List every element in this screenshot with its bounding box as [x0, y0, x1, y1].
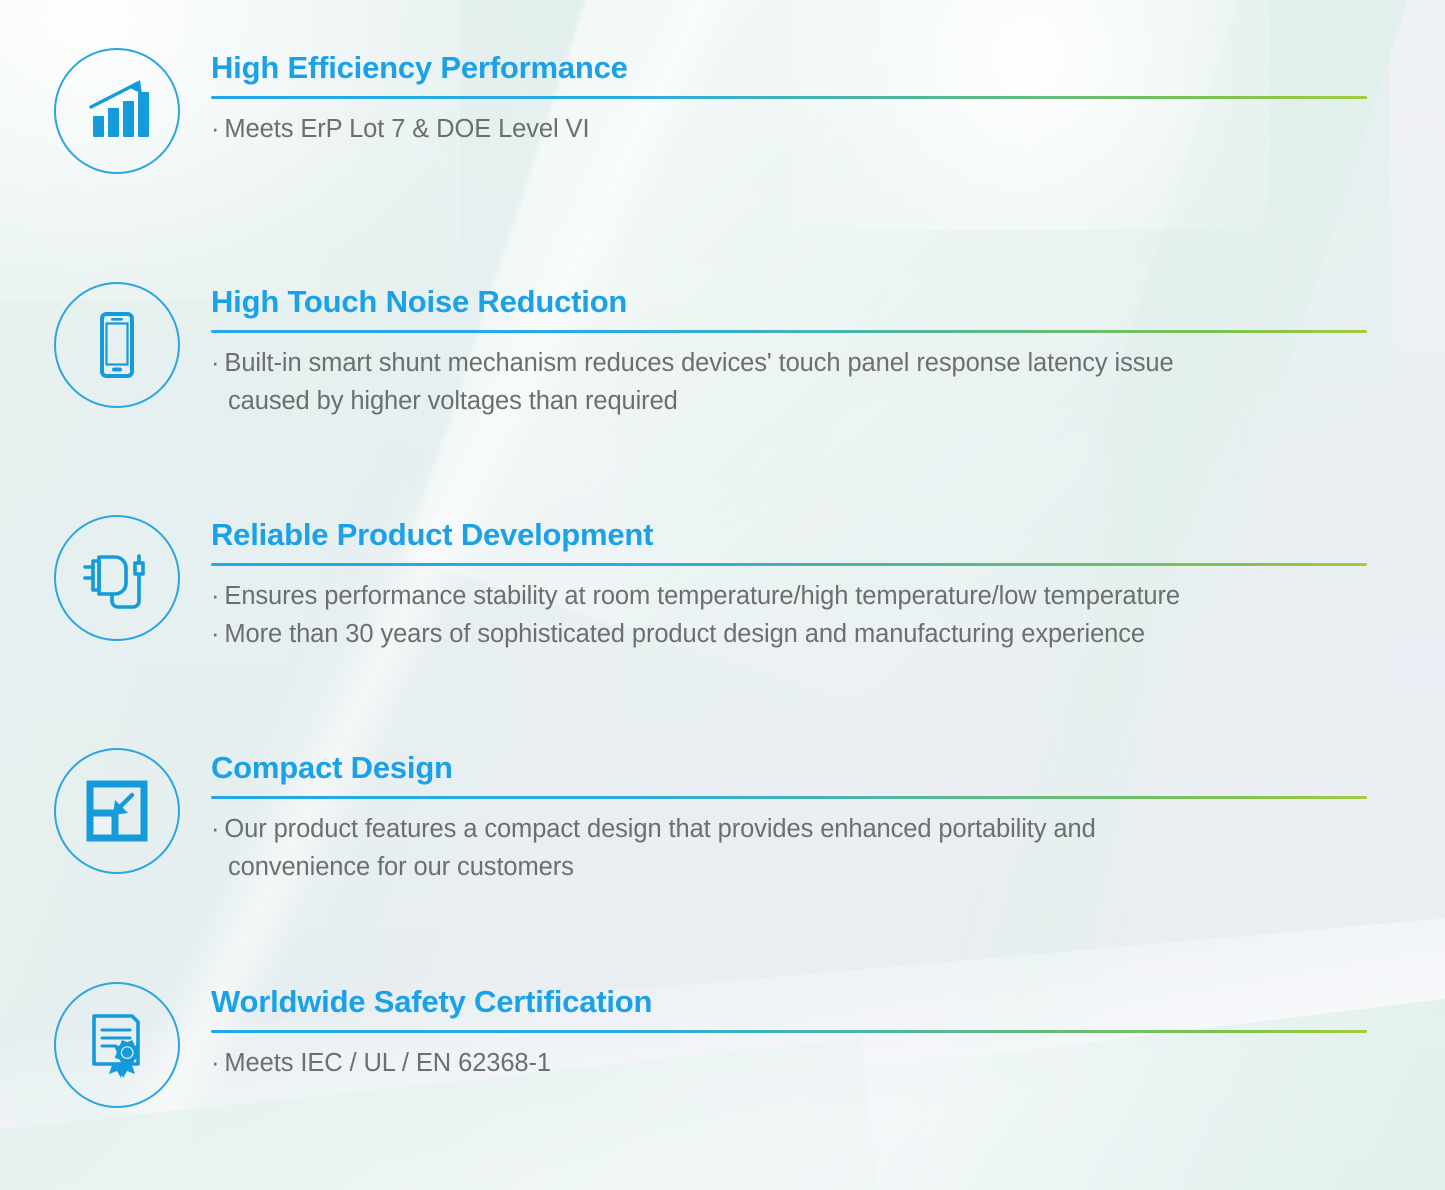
feature-bullet-text: convenience for our customers [228, 853, 574, 881]
certificate-seal-icon [54, 982, 180, 1108]
feature-bullet-line: ·Ensures performance stability at room t… [211, 577, 1367, 616]
feature-divider [211, 1030, 1367, 1033]
bullet-glyph: · [211, 1049, 219, 1077]
feature-highlights-page: High Efficiency Performance ·Meets ErP L… [0, 0, 1445, 1190]
feature-bullet-line: ·More than 30 years of sophisticated pro… [211, 615, 1367, 654]
feature-bullet-text: Ensures performance stability at room te… [224, 582, 1180, 610]
feature-text-block: Worldwide Safety Certification ·Meets IE… [211, 986, 1367, 1082]
feature-text-block: Compact Design ·Our product features a c… [211, 752, 1367, 887]
feature-bullet-line: ·Meets ErP Lot 7 & DOE Level VI [211, 110, 1367, 149]
feature-bullet-text: Meets ErP Lot 7 & DOE Level VI [224, 115, 589, 143]
feature-bullet-list: ·Meets ErP Lot 7 & DOE Level VI [211, 110, 1367, 149]
feature-bullet-text: Our product features a compact design th… [224, 815, 1095, 843]
feature-bullet-text: Built-in smart shunt mechanism reduces d… [224, 349, 1173, 377]
bullet-glyph: · [211, 115, 219, 143]
feature-bullet-text: Meets IEC / UL / EN 62368-1 [224, 1049, 551, 1077]
bullet-glyph: · [211, 582, 219, 610]
feature-text-block: Reliable Product Development ·Ensures pe… [211, 519, 1367, 654]
feature-divider [211, 96, 1367, 99]
smartphone-icon [54, 282, 180, 408]
feature-title: Reliable Product Development [211, 519, 1367, 552]
bullet-glyph: · [211, 349, 219, 377]
bullet-glyph: · [211, 815, 219, 843]
feature-bullet-list: ·Built-in smart shunt mechanism reduces … [211, 344, 1367, 422]
feature-title: Worldwide Safety Certification [211, 986, 1367, 1019]
feature-text-block: High Efficiency Performance ·Meets ErP L… [211, 52, 1367, 148]
feature-bullet-line-continuation: convenience for our customers [211, 848, 1367, 887]
feature-bullet-line: ·Built-in smart shunt mechanism reduces … [211, 344, 1367, 383]
feature-divider [211, 563, 1367, 566]
feature-text-block: High Touch Noise Reduction ·Built-in sma… [211, 286, 1367, 421]
feature-title: Compact Design [211, 752, 1367, 785]
feature-title: High Efficiency Performance [211, 52, 1367, 85]
feature-bullet-line: ·Our product features a compact design t… [211, 810, 1367, 849]
power-adapter-icon [54, 515, 180, 641]
feature-title: High Touch Noise Reduction [211, 286, 1367, 319]
feature-bullet-line-continuation: caused by higher voltages than required [211, 382, 1367, 421]
feature-bullet-text: More than 30 years of sophisticated prod… [224, 620, 1145, 648]
compact-resize-icon [54, 748, 180, 874]
bar-chart-growth-icon [54, 48, 180, 174]
bullet-glyph: · [211, 620, 219, 648]
feature-bullet-list: ·Ensures performance stability at room t… [211, 577, 1367, 655]
feature-bullet-line: ·Meets IEC / UL / EN 62368-1 [211, 1044, 1367, 1083]
feature-bullet-list: ·Meets IEC / UL / EN 62368-1 [211, 1044, 1367, 1083]
feature-divider [211, 796, 1367, 799]
feature-divider [211, 330, 1367, 333]
feature-bullet-list: ·Our product features a compact design t… [211, 810, 1367, 888]
feature-bullet-text: caused by higher voltages than required [228, 387, 678, 415]
